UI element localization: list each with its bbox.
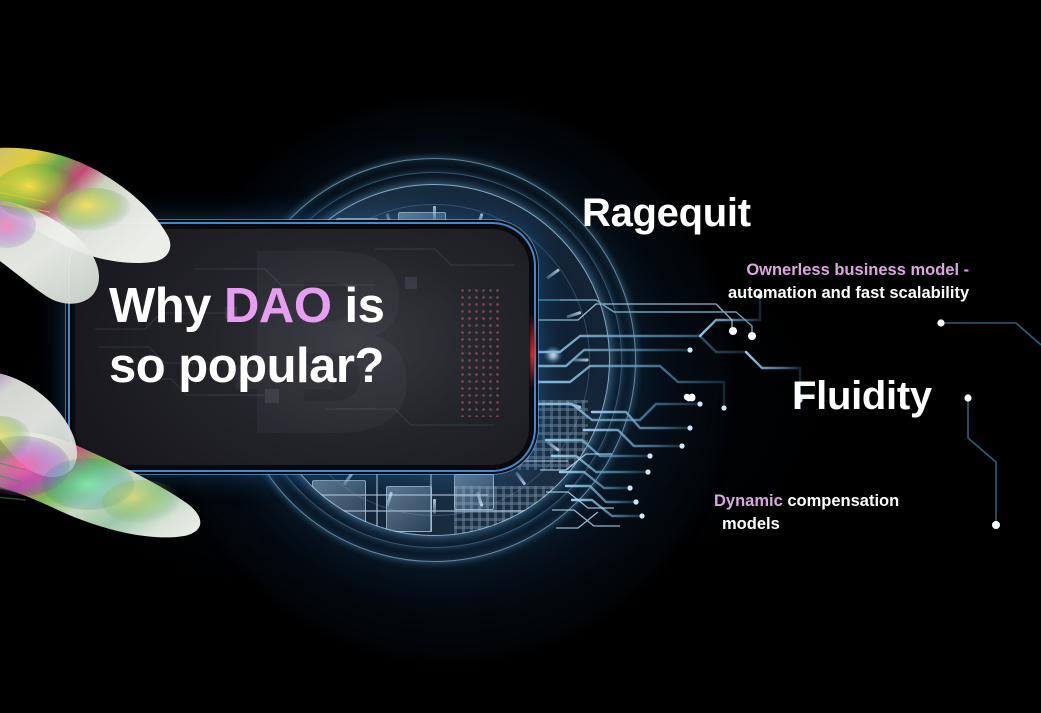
headline-post: is (331, 279, 384, 333)
caption-accent-dynamic: Dynamic (714, 492, 783, 510)
headline-line2: so popular? (109, 339, 384, 393)
smartphone-device[interactable]: Ƀ Why DAO is so popul (72, 226, 532, 468)
headline-accent-dao: DAO (224, 279, 331, 333)
caption-line-1: Dynamic compensation (714, 490, 899, 513)
caption-line-2: automation and fast scalability (728, 282, 969, 305)
caption-rest: compensation (783, 492, 899, 510)
feature-caption-fluidity: Dynamic compensation models (714, 490, 899, 537)
feature-heading-ragequit: Ragequit (582, 191, 751, 236)
headline-pre: Why (109, 279, 224, 333)
phone-screen[interactable]: Ƀ Why DAO is so popul (75, 229, 529, 465)
phone-headline: Why DAO is so popular? (109, 277, 509, 397)
caption-line-1: Ownerless business model - (728, 259, 969, 282)
caption-line-2: models (714, 513, 899, 536)
poster-canvas: Ƀ (0, 0, 1041, 713)
feature-heading-fluidity: Fluidity (792, 374, 932, 419)
phone-edge-red-accent (530, 312, 535, 390)
feature-caption-ragequit: Ownerless business model - automation an… (728, 259, 969, 306)
